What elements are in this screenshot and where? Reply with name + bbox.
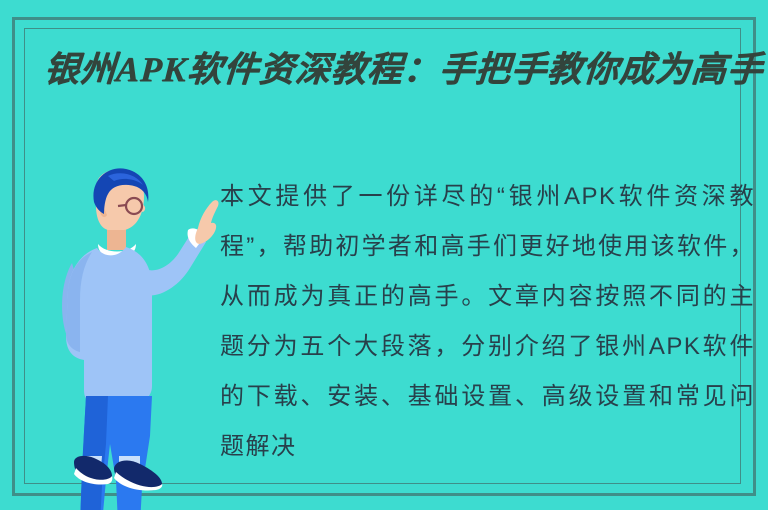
illustration-man-pointing — [50, 168, 220, 510]
poster-title: 银州APK软件资深教程：手把手教你成为高手！ — [42, 46, 768, 94]
poster-body-text: 本文提供了一份详尽的“银州APK软件资深教程”，帮助初学者和高手们更好地使用该软… — [220, 172, 755, 472]
poster-canvas: 银州APK软件资深教程：手把手教你成为高手！ 本文提供了一份详尽的“银州APK软… — [0, 0, 768, 510]
pointing-hand — [195, 200, 218, 244]
